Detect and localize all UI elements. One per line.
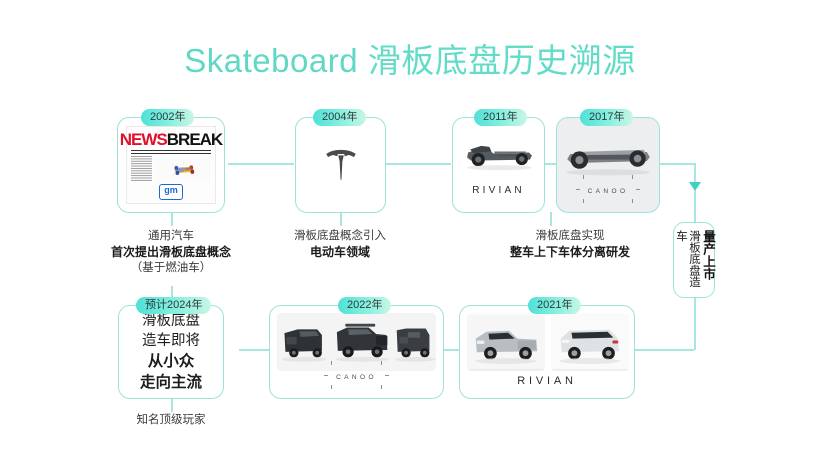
stem-2004 [340,212,342,226]
page-title-en: Skateboard [184,42,358,79]
card-2021-rivian-vehicles[interactable]: RIVIAN [459,305,635,399]
card-2002-newsbreak[interactable]: NEWSBREAK [117,117,225,213]
endpoint-normal-text: 滑板底盘造车 [674,230,700,297]
forecast-line-4: 走向主流 [140,373,202,393]
badge-2011: 2011年 [474,109,527,126]
caption-2011-2017: 滑板底盘实现 整车上下车体分离研发 [480,228,660,260]
canoo-wordmark-wrap-2022: CANOO [270,361,443,389]
mass-production-box[interactable]: 量产上市 滑板底盘造车 [673,222,715,298]
caption-shared-line1: 滑板底盘实现 [480,228,660,244]
rivian-wordmark-2021: RIVIAN [460,375,634,387]
connector-2011-to-2017 [544,163,556,165]
card-2011-rivian[interactable]: RIVIAN [452,117,545,213]
connector-2022-to-2021 [444,349,459,351]
page-title-cn: 滑板底盘历史溯源 [368,42,636,79]
rivian-suv-icon [551,313,629,371]
tesla-logo-icon [318,142,364,188]
badge-2004: 2004年 [313,109,366,126]
connector-endpoint-bottom-vertical [694,297,696,350]
connector-2017-to-endpoint [660,163,696,165]
caption-2002-line1: 通用汽车 [96,228,246,244]
connector-endpoint-down-2 [694,190,696,222]
forecast-line-2: 造车即将 [142,332,200,351]
rivian-wordmark-2011: RIVIAN [453,185,544,196]
newsbreak-word-break: BREAK [167,130,222,149]
forecast-line-1: 滑板底盘 [142,312,200,331]
caption-2004-line2: 电动车领域 [265,244,415,260]
canoo-wordmark-text-2017: CANOO [588,188,629,195]
canoo-wordmark-text-2022: CANOO [336,374,377,381]
rivian-chassis-icon [458,124,539,182]
connector-2024-to-2022 [239,349,269,351]
tesla-logo-wrap [296,118,385,212]
caption-2002-line2: 首次提出滑板底盘概念 [96,244,246,260]
rivian-r1s-photo [551,313,629,371]
newsbreak-diagram [155,156,211,182]
caption-2002-line3: （基于燃油车） [96,260,246,276]
caption-2024: 知名顶级玩家 [101,412,241,428]
card-2024-forecast[interactable]: 滑板底盘 造车即将 从小众 走向主流 [118,305,224,399]
card-2017-canoo[interactable]: CANOO [556,117,660,213]
caption-2002: 通用汽车 首次提出滑板底盘概念 （基于燃油车） [96,228,246,276]
card-2004-tesla[interactable] [295,117,386,213]
gm-logo-icon: gm [159,184,183,200]
canoo-wordmark-2022: CANOO [327,361,386,389]
newsbreak-rule [131,150,212,154]
caption-2004: 滑板底盘概念引入 电动车领域 [265,228,415,260]
stem-2024-caption [171,398,173,412]
stem-2011-2017 [550,212,552,226]
caption-2004-line1: 滑板底盘概念引入 [265,228,415,244]
canoo-wordmark-wrap-2017: CANOO [557,175,659,203]
badge-2022: 2022年 [338,297,391,314]
infographic-canvas: Skateboard 滑板底盘历史溯源 2002年 NEWSBREAK [0,0,820,461]
rivian-r1t-photo [467,313,545,371]
connector-2004-to-2011 [385,163,451,165]
newsbreak-text-column [131,156,153,182]
newsbreak-body [131,156,212,182]
newsbreak-masthead: NEWSBREAK [131,130,212,149]
caption-shared-line2: 整车上下车体分离研发 [480,244,660,260]
skateboard-chassis-diagram-icon [158,160,210,179]
caption-2024-line1: 知名顶级玩家 [101,412,241,428]
badge-2002: 2002年 [141,109,194,126]
newsbreak-magazine: NEWSBREAK [126,126,216,204]
page-title: Skateboard 滑板底盘历史溯源 [0,34,820,82]
forecast-line-3: 从小众 [148,352,195,372]
canoo-wordmark-2017: CANOO [579,175,638,203]
connector-2021-to-endpoint [635,349,694,351]
connector-2002-to-2004 [228,163,294,165]
card-2022-canoo-vehicles[interactable]: CANOO [269,305,444,399]
rivian-pickup-icon [467,313,545,371]
rivian-chassis-photo [458,124,539,182]
badge-2021: 2021年 [528,297,581,314]
badge-2024: 预计2024年 [136,297,211,314]
endpoint-bold-text: 量产上市 [701,230,714,280]
stem-2002 [171,212,173,226]
newsbreak-word-news: NEWS [120,130,167,149]
badge-2017: 2017年 [580,109,633,126]
